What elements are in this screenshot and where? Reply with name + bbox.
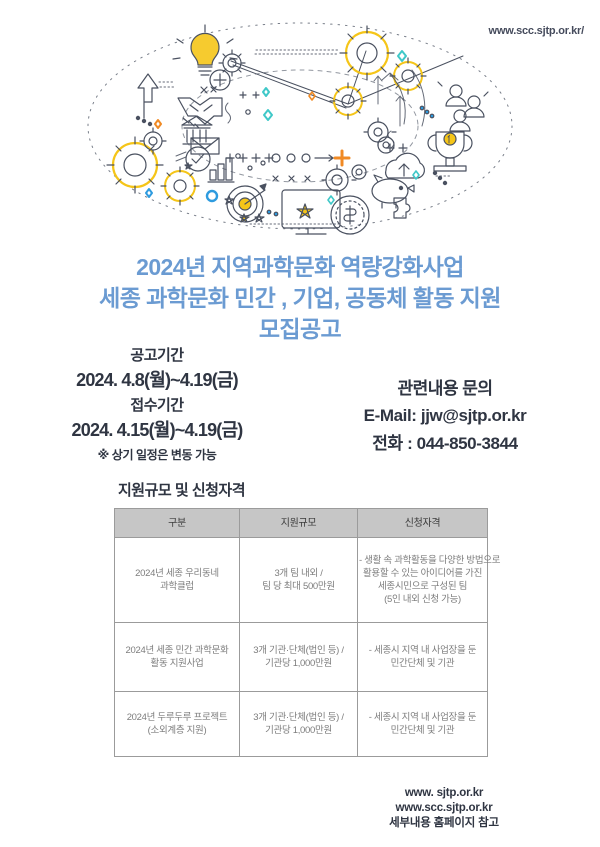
arrow-up-icon [138, 74, 158, 118]
cell-line: 3개 팀 내외 / [241, 567, 356, 580]
cell-line: 기관당 1,000만원 [241, 657, 356, 670]
science-innovation-illustration [60, 8, 540, 243]
trophy-icon [428, 132, 472, 171]
cell-line: 2024년 두루두루 프로젝트 [116, 711, 238, 724]
page-title-line-1: 2024년 지역과학문화 역량강화사업 [0, 252, 600, 283]
cell-line: 팀 당 최대 500만원 [241, 580, 356, 593]
table-cell-scale: 3개 기관·단체(법인 등) / 기관당 1,000만원 [240, 692, 358, 757]
contact-block: 관련내용 문의 E-Mail: jjw@sjtp.or.kr 전화 : 044-… [300, 375, 590, 458]
table-cell-category: 2024년 두루두루 프로젝트 (소외계층 지원) [115, 692, 240, 757]
table-header-category: 구분 [115, 509, 240, 538]
table-cell-scale: 3개 팀 내외 / 팀 당 최대 500만원 [240, 538, 358, 623]
cell-line: 3개 기관·단체(법인 등) / [241, 711, 356, 724]
gear-icon-bottom-small [352, 165, 366, 179]
notice-period-value: 2024. 4.8(월)~4.19(금) [14, 367, 300, 394]
cell-line: - 생활 속 과학활동을 다양한 방법으로 [359, 554, 486, 567]
table-row: 2024년 세종 민간 과학문화 활동 지원사업 3개 기관·단체(법인 등) … [115, 623, 488, 692]
application-period-value: 2024. 4.15(월)~4.19(금) [14, 417, 300, 444]
plus-circle-icon [210, 70, 230, 90]
piggybank-icon [372, 175, 414, 208]
cell-line: 활용할 수 있는 아이디어를 가진 [359, 567, 486, 580]
table-cell-category: 2024년 세종 우리동네 과학클럽 [115, 538, 240, 623]
cell-line: - 세종시 지역 내 사업장을 둔 [359, 711, 486, 724]
cell-line: 민간단체 및 기관 [359, 657, 486, 670]
cell-line: 활동 지원사업 [116, 657, 238, 670]
people-group-icon [438, 82, 488, 131]
table-header-row: 구분 지원규모 신청자격 [115, 509, 488, 538]
cell-line: 2024년 세종 민간 과학문화 [116, 644, 238, 657]
section-heading: 지원규모 및 신청자격 [118, 479, 245, 500]
cell-line: - 세종시 지역 내 사업장을 둔 [359, 644, 486, 657]
cell-line: 2024년 세종 우리동네 [116, 567, 238, 580]
table-cell-eligibility: - 세종시 지역 내 사업장을 둔 민간단체 및 기관 [358, 623, 488, 692]
page-title: 2024년 지역과학문화 역량강화사업 세종 과학문화 민간 , 기업, 공동체… [0, 252, 600, 345]
gear-icon-medium-topright [390, 58, 426, 94]
table-header-scale: 지원규모 [240, 509, 358, 538]
table-cell-scale: 3개 기관·단체(법인 등) / 기관당 1,000만원 [240, 623, 358, 692]
gear-icon-center [330, 83, 366, 119]
table-cell-eligibility: - 세종시 지역 내 사업장을 둔 민간단체 및 기관 [358, 692, 488, 757]
cell-line: 기관당 1,000만원 [241, 724, 356, 737]
page-title-line-2: 세종 과학문화 민간 , 기업, 공동체 활동 지원 [0, 283, 600, 314]
table-header-eligibility: 신청자격 [358, 509, 488, 538]
contact-phone[interactable]: 전화 : 044-850-3844 [300, 430, 590, 458]
schedule-block: 공고기간 2024. 4.8(월)~4.19(금) 접수기간 2024. 4.1… [14, 344, 300, 466]
application-period-label: 접수기간 [14, 394, 300, 417]
gear-icon-medium-bottomleft [161, 167, 199, 205]
gear-icon-large-bottomleft [107, 137, 163, 193]
footer-url-1[interactable]: www. sjtp.or.kr [300, 786, 588, 801]
table-row: 2024년 세종 우리동네 과학클럽 3개 팀 내외 / 팀 당 최대 500만… [115, 538, 488, 623]
contact-label: 관련내용 문의 [300, 375, 590, 402]
gear-icon-small-left [219, 50, 245, 76]
page-title-line-3: 모집공고 [0, 314, 600, 345]
table-cell-eligibility: - 생활 속 과학활동을 다양한 방법으로 활용할 수 있는 아이디어를 가진 … [358, 538, 488, 623]
schedule-note: ※ 상기 일정은 변동 가능 [14, 444, 300, 466]
table-cell-category: 2024년 세종 민간 과학문화 활동 지원사업 [115, 623, 240, 692]
dollar-coin-icon [331, 196, 369, 234]
cell-line: 세종시민으로 구성된 팀 [359, 580, 486, 593]
lightbulb-icon [173, 25, 237, 75]
contact-email[interactable]: E-Mail: jjw@sjtp.or.kr [300, 402, 590, 430]
support-table-container: 구분 지원규모 신청자격 2024년 세종 우리동네 과학클럽 3개 팀 내외 … [114, 508, 487, 757]
notice-period-label: 공고기간 [14, 344, 300, 367]
cell-line: 과학클럽 [116, 580, 238, 593]
cell-line: (5인 내외 신청 가능) [359, 593, 486, 606]
gear-icon-right-upper [364, 118, 396, 146]
cell-line: 민간단체 및 기관 [359, 724, 486, 737]
table-row: 2024년 두루두루 프로젝트 (소외계층 지원) 3개 기관·단체(법인 등)… [115, 692, 488, 757]
footer-note: 세부내용 홈페이지 참고 [300, 816, 588, 831]
gear-icon-small-bottomleft [140, 128, 166, 154]
support-table: 구분 지원규모 신청자격 2024년 세종 우리동네 과학클럽 3개 팀 내외 … [114, 508, 488, 757]
footer-url-2[interactable]: www.scc.sjtp.or.kr [300, 801, 588, 816]
cell-line: (소외계층 지원) [116, 724, 238, 737]
gear-icon-large-topright [340, 26, 394, 80]
footer-block: www. sjtp.or.kr www.scc.sjtp.or.kr 세부내용 … [300, 786, 588, 831]
cell-line: 3개 기관·단체(법인 등) / [241, 644, 356, 657]
